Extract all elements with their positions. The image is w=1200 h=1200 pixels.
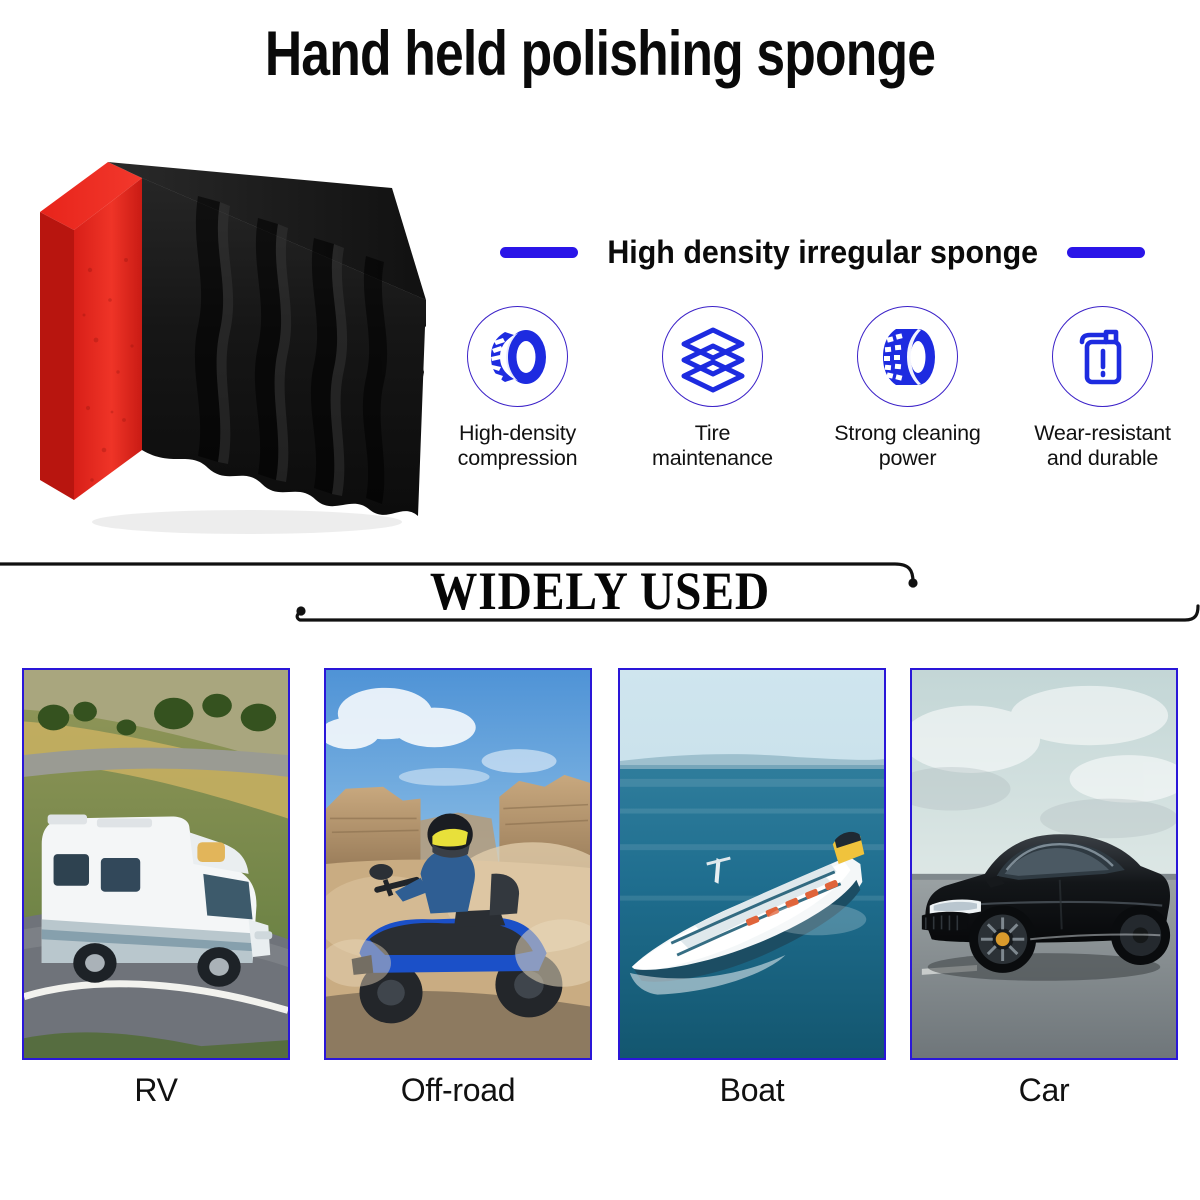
- banner-dash-left-icon: [500, 247, 578, 258]
- use-case-card-boat[interactable]: Boat: [618, 668, 886, 1109]
- feature-label: High-density compression: [423, 421, 613, 471]
- use-case-list: RV: [0, 668, 1200, 1138]
- use-case-label: Car: [910, 1072, 1178, 1109]
- banner-dash-right-icon: [1067, 247, 1145, 258]
- use-case-label: Boat: [618, 1072, 886, 1109]
- feature-banner-text: High density irregular sponge: [607, 234, 1038, 271]
- use-case-label: RV: [22, 1072, 290, 1109]
- use-case-photo-boat: [618, 668, 886, 1060]
- feature-item-tire-maintenance: Tire maintenance: [615, 306, 810, 471]
- feature-label: Strong cleaning power: [813, 421, 1003, 471]
- use-case-card-off-road[interactable]: Off-road: [324, 668, 592, 1109]
- feature-label: Wear-resistant and durable: [1008, 421, 1198, 471]
- use-case-label: Off-road: [324, 1072, 592, 1109]
- tire-ring-icon: [481, 320, 555, 394]
- feature-icon-circle: [1052, 306, 1153, 407]
- feature-banner: High density irregular sponge: [455, 228, 1190, 276]
- feature-list: High-density compression Tire maintenanc…: [420, 306, 1200, 536]
- feature-item-wear-resistant-and-durable: Wear-resistant and durable: [1005, 306, 1200, 471]
- use-case-card-car[interactable]: Car: [910, 668, 1178, 1109]
- use-case-photo-rv: [22, 668, 290, 1060]
- use-case-card-rv[interactable]: RV: [22, 668, 290, 1109]
- use-case-photo-car: [910, 668, 1178, 1060]
- feature-icon-circle: [857, 306, 958, 407]
- tire-tread-icon: [871, 320, 945, 394]
- jerrycan-icon: [1066, 320, 1140, 394]
- layers-icon: [676, 320, 750, 394]
- widely-used-heading: WIDELY USED: [72, 560, 1128, 622]
- feature-item-high-density-compression: High-density compression: [420, 306, 615, 471]
- feature-item-strong-cleaning-power: Strong cleaning power: [810, 306, 1005, 471]
- feature-icon-circle: [662, 306, 763, 407]
- product-photo-sponge: [22, 150, 442, 570]
- feature-icon-circle: [467, 306, 568, 407]
- use-case-photo-off-road: [324, 668, 592, 1060]
- feature-label: Tire maintenance: [618, 421, 808, 471]
- page-title: Hand held polishing sponge: [108, 18, 1092, 90]
